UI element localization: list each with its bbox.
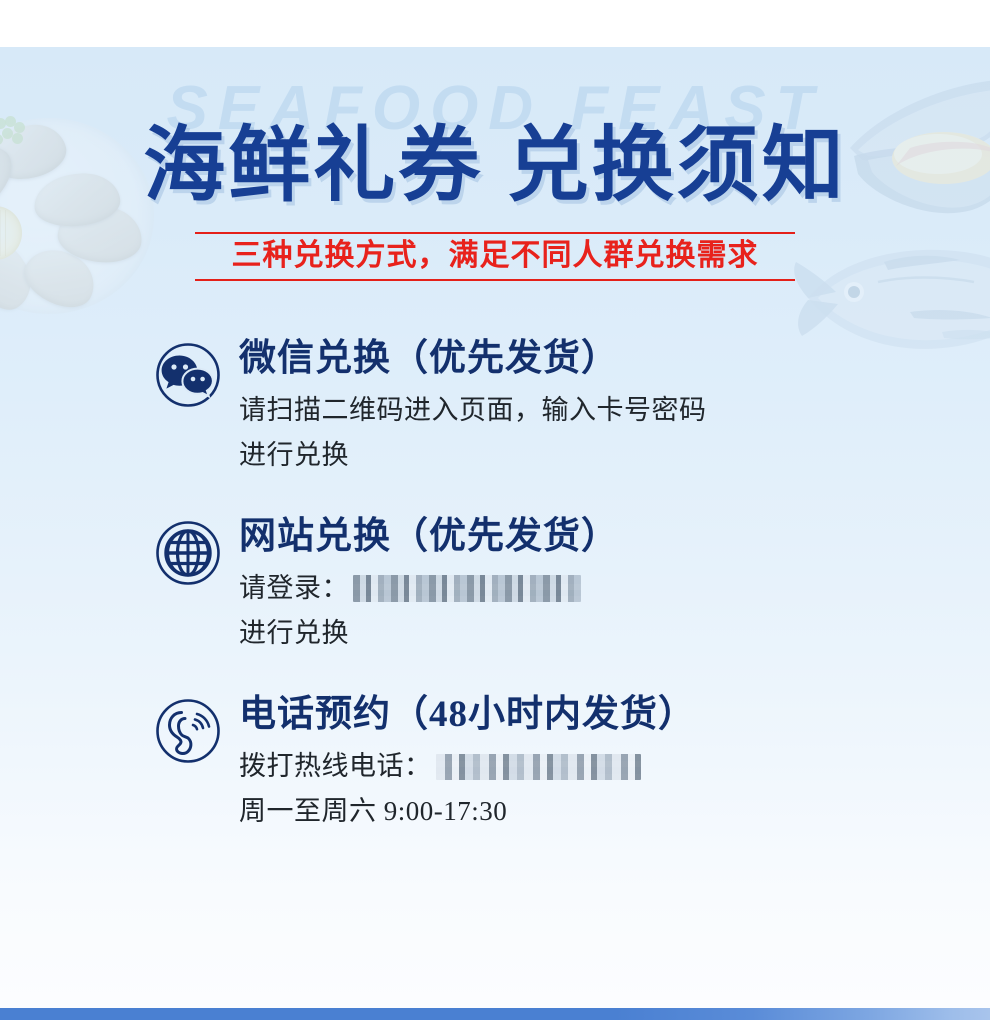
method-phone-hours: 周一至周六 9:00-17:30 (239, 789, 990, 834)
method-website-heading: 网站兑换（优先发货） (239, 514, 990, 560)
method-website-url-line: 请登录： (239, 566, 990, 611)
page-title: 海鲜礼券 兑换须知 (0, 118, 990, 214)
seafood-voucher-poster: SEAFOOD FEAST 海鲜礼券 兑换须知 三种兑换方式，满足不同人群兑换需… (0, 0, 990, 1020)
method-phone: 电话预约（48小时内发货） 拨打热线电话： 周一至周六 9:00-17:30 (0, 692, 990, 834)
phone-icon (155, 698, 221, 764)
top-white-band (0, 0, 990, 47)
method-wechat-line-1: 请扫描二维码进入页面，输入卡号密码 (239, 388, 990, 433)
method-wechat: 微信兑换（优先发货） 请扫描二维码进入页面，输入卡号密码 进行兑换 (0, 336, 990, 478)
redemption-methods-list: 微信兑换（优先发货） 请扫描二维码进入页面，输入卡号密码 进行兑换 (0, 336, 990, 870)
method-wechat-body: 微信兑换（优先发货） 请扫描二维码进入页面，输入卡号密码 进行兑换 (239, 336, 990, 478)
method-website-line-2: 进行兑换 (239, 611, 990, 656)
method-website-url-label: 请登录： (239, 573, 349, 603)
footer-bar (0, 1008, 990, 1020)
method-website: 网站兑换（优先发货） 请登录： 进行兑换 (0, 514, 990, 656)
method-phone-hotline-line: 拨打热线电话： (239, 744, 990, 789)
subtitle-text: 三种兑换方式，满足不同人群兑换需求 (195, 238, 795, 274)
redacted-hotline-number (436, 754, 641, 780)
subtitle-banner: 三种兑换方式，满足不同人群兑换需求 (195, 232, 795, 281)
method-wechat-line-2: 进行兑换 (239, 433, 990, 478)
method-wechat-heading: 微信兑换（优先发货） (239, 336, 990, 382)
wechat-icon (155, 342, 221, 408)
redacted-website-url (353, 575, 581, 602)
method-phone-hotline-label: 拨打热线电话： (239, 751, 432, 781)
globe-icon (155, 520, 221, 586)
method-website-body: 网站兑换（优先发货） 请登录： 进行兑换 (239, 514, 990, 656)
method-phone-body: 电话预约（48小时内发货） 拨打热线电话： 周一至周六 9:00-17:30 (239, 692, 990, 834)
method-phone-heading: 电话预约（48小时内发货） (239, 692, 990, 738)
